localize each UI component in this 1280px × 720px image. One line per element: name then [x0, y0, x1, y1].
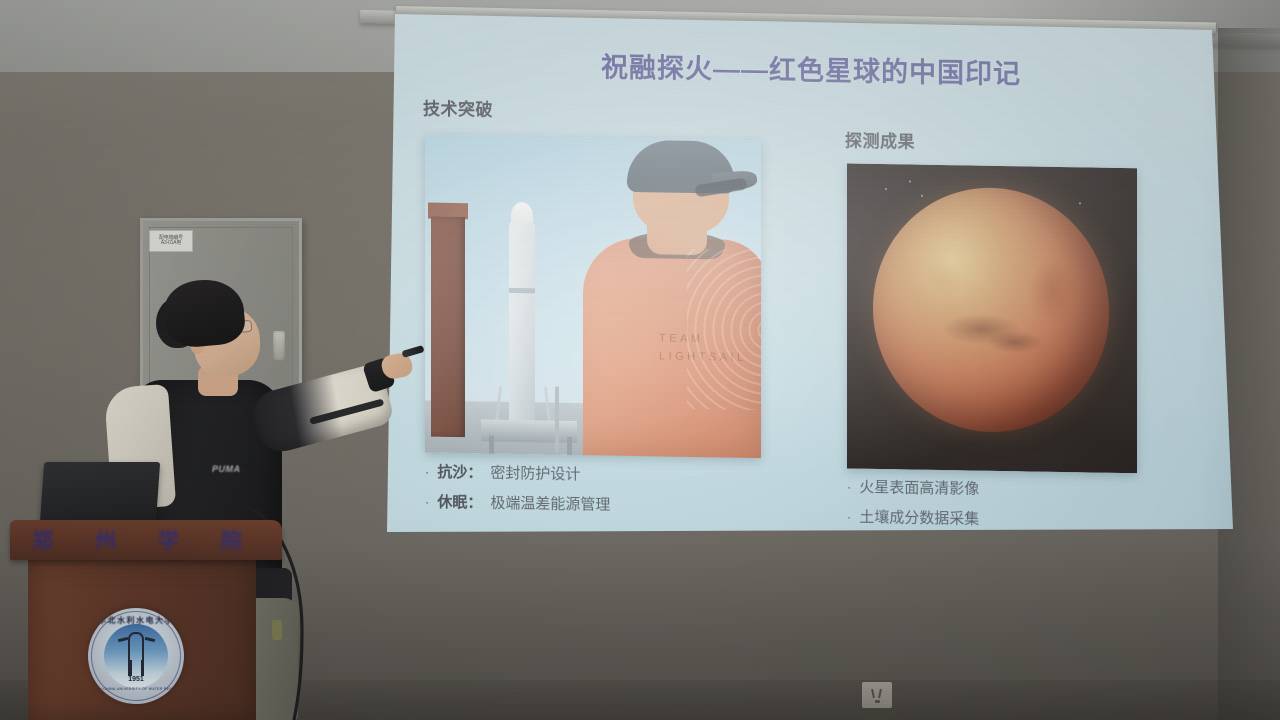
pad-pole — [555, 387, 559, 453]
rocket-stripe — [509, 288, 535, 293]
ceiling — [0, 0, 1280, 72]
outlet-ground-slot — [875, 700, 880, 703]
emblem-year: 1951 — [88, 676, 184, 683]
bullet-value: 火星表面高清影像 — [859, 476, 979, 499]
person-head — [633, 148, 729, 236]
emblem-figure-leg-left — [129, 660, 132, 676]
slide-content: 祝融探火——红色星球的中国印记 技术突破 探测成果 — [395, 16, 1227, 544]
rocket-body — [509, 222, 535, 422]
emblem-en-text: NORTH CHINA UNIVERSITY OF WATER RESOURCE… — [88, 687, 184, 691]
mars-globe — [873, 186, 1109, 434]
person-cap — [627, 140, 735, 194]
bullet-dot-icon: · — [847, 509, 851, 524]
outlet-slot-left — [871, 689, 875, 698]
presenter-hair — [161, 277, 246, 350]
rocket-nose-cone — [511, 202, 533, 230]
panel-label-line2: A3-01A电 — [161, 241, 181, 246]
podium-front-text: 郑 州 学 院 — [32, 526, 242, 554]
bullet-item: · 休眠： 极端温差能源管理 — [425, 490, 610, 514]
bullet-item: · 抗沙： 密封防护设计 — [425, 460, 610, 484]
bullet-key: 抗沙： — [437, 461, 482, 483]
cap-brim — [712, 170, 758, 192]
launch-pad-deck — [481, 419, 577, 443]
pad-leg-right — [567, 437, 572, 457]
mars-space-background — [847, 163, 1137, 473]
mars-globe-photo — [847, 163, 1137, 473]
pad-leg-left — [489, 436, 494, 456]
podium: 郑 州 学 院 华北水利水电大学 1951 NORTH CHINA UNIVER… — [10, 520, 282, 720]
rocket-scene: TEAM LIGHTSAIL — [425, 134, 761, 458]
lecture-room-scene: 配电箱编号 A3-01A电 祝融探火——红色星球的中国印记 技术突破 探测成果 — [0, 0, 1280, 720]
podium-char-3: 学 — [158, 525, 179, 555]
podium-char-2: 州 — [95, 525, 116, 555]
section-label-right: 探测成果 — [845, 126, 915, 152]
photo-person: TEAM LIGHTSAIL — [577, 139, 761, 458]
laptop[interactable] — [40, 462, 160, 524]
person-tshirt — [583, 237, 761, 458]
person-neck — [647, 202, 707, 255]
bullet-value: 密封防护设计 — [490, 462, 580, 484]
rocket-launchpad-photo: TEAM LIGHTSAIL — [425, 134, 761, 458]
outlet-slot-right — [878, 689, 882, 698]
bullets-right: · 火星表面高清影像 · 土壤成分数据采集 — [847, 475, 979, 537]
star — [1079, 202, 1081, 204]
laser-pointer-icon[interactable] — [401, 345, 424, 358]
launch-tower — [431, 217, 465, 438]
shirt-text-line1: TEAM — [659, 330, 761, 350]
bullet-value: 土壤成分数据采集 — [859, 506, 979, 529]
tower-top — [428, 203, 468, 220]
bullets-left: · 抗沙： 密封防护设计 · 休眠： 极端温差能源管理 — [425, 460, 610, 523]
bullet-item: · 土壤成分数据采集 — [847, 505, 979, 528]
jacket-logo: PUMA — [212, 464, 254, 475]
wall-outlet[interactable] — [862, 682, 892, 708]
rocket-strut — [494, 386, 552, 428]
bullet-key: 休眠： — [437, 491, 482, 513]
sunglasses-icon — [694, 177, 747, 197]
bullet-item: · 火星表面高清影像 — [847, 475, 979, 498]
podium-char-4: 院 — [221, 525, 242, 555]
section-label-left: 技术突破 — [423, 94, 493, 120]
person-collar — [629, 232, 725, 260]
podium-top-panel: 郑 州 学 院 — [10, 520, 282, 560]
panel-label-sticker: 配电箱编号 A3-01A电 — [149, 230, 193, 252]
university-emblem: 华北水利水电大学 1951 NORTH CHINA UNIVERSITY OF … — [88, 608, 184, 704]
star — [909, 181, 911, 183]
shirt-text-line2: LIGHTSAIL — [659, 348, 761, 368]
shirt-text: TEAM LIGHTSAIL — [659, 330, 761, 367]
bullet-value: 极端温差能源管理 — [490, 492, 610, 515]
star — [885, 188, 887, 190]
emblem-figure-leg-right — [141, 660, 144, 676]
podium-char-1: 郑 — [32, 525, 53, 555]
launchpad-ground — [425, 400, 761, 458]
photo-ripple-overlay — [687, 249, 761, 410]
emblem-cn-text: 华北水利水电大学 — [88, 615, 184, 626]
star — [921, 195, 923, 197]
bullet-dot-icon: · — [847, 479, 851, 494]
